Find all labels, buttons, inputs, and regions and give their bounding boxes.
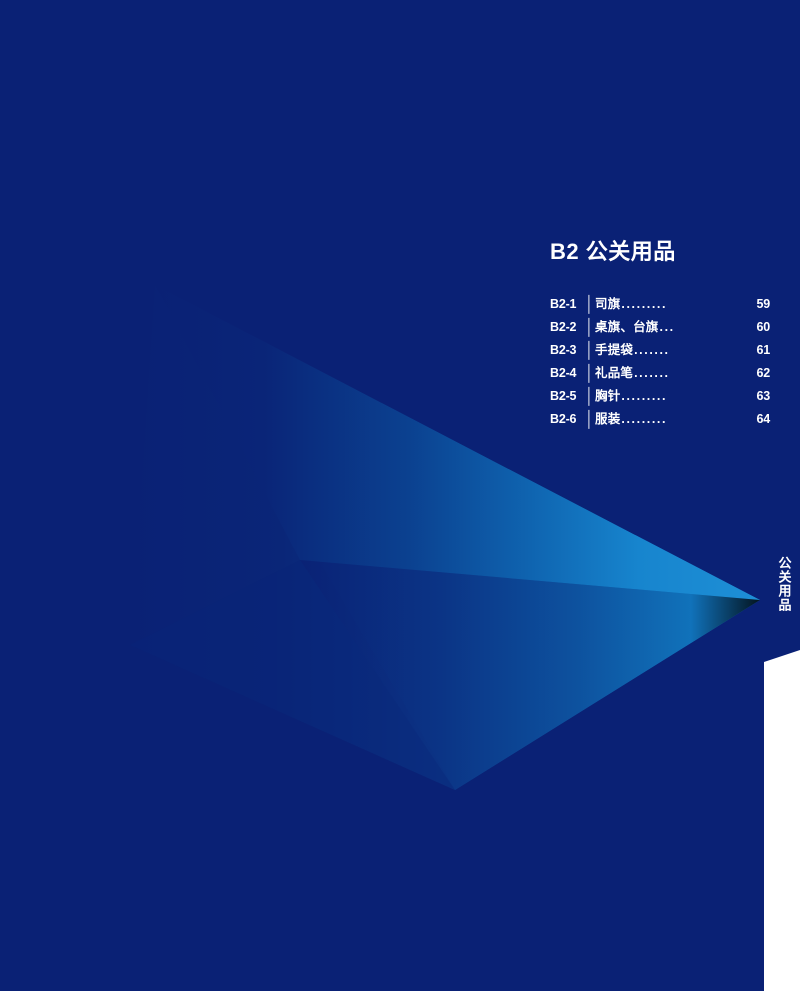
section-divider-page: 公关用品 B2 公关用品 B2-1 │ 司旗 ......... 59 B2-2…: [0, 0, 800, 991]
toc-item-page: 60: [756, 321, 770, 334]
toc-item-name: 手提袋: [595, 344, 633, 357]
toc-item-leader-dots: .......: [634, 367, 755, 380]
toc-item-code: B2-5: [550, 390, 584, 403]
toc-item-code: B2-3: [550, 344, 584, 357]
toc-item-leader-dots: ...: [660, 321, 756, 334]
toc-item[interactable]: B2-2 │ 桌旗、台旗 ... 60: [550, 321, 770, 344]
toc-item-page: 62: [756, 367, 770, 380]
toc-item[interactable]: B2-6 │ 服装 ......... 64: [550, 413, 770, 436]
toc-item-leader-dots: .........: [621, 298, 755, 311]
toc-item-code: B2-2: [550, 321, 584, 334]
toc-item[interactable]: B2-5 │ 胸针 ......... 63: [550, 390, 770, 413]
toc-item-separator: │: [584, 343, 595, 359]
abstract-triangle-arrow-graphic: [0, 0, 800, 991]
toc-item-name: 桌旗、台旗: [595, 321, 659, 334]
side-tab-label: 公关用品: [778, 556, 791, 612]
toc-item-page: 64: [756, 413, 770, 426]
toc-item-page: 59: [756, 298, 770, 311]
section-contents: B2 公关用品 B2-1 │ 司旗 ......... 59 B2-2 │ 桌旗…: [550, 240, 770, 436]
toc-list: B2-1 │ 司旗 ......... 59 B2-2 │ 桌旗、台旗 ... …: [550, 298, 770, 436]
toc-item[interactable]: B2-1 │ 司旗 ......... 59: [550, 298, 770, 321]
toc-item-page: 63: [756, 390, 770, 403]
toc-item-separator: │: [584, 366, 595, 382]
toc-item-separator: │: [584, 412, 595, 428]
toc-item[interactable]: B2-4 │ 礼品笔 ....... 62: [550, 367, 770, 390]
toc-item-code: B2-6: [550, 413, 584, 426]
toc-item-name: 服装: [595, 413, 620, 426]
toc-item-page: 61: [756, 344, 770, 357]
toc-item-leader-dots: .........: [621, 413, 755, 426]
toc-item-code: B2-4: [550, 367, 584, 380]
toc-item-code: B2-1: [550, 298, 584, 311]
toc-item[interactable]: B2-3 │ 手提袋 ....... 61: [550, 344, 770, 367]
toc-item-leader-dots: .........: [621, 390, 755, 403]
toc-item-separator: │: [584, 389, 595, 405]
toc-item-name: 胸针: [595, 390, 620, 403]
toc-item-name: 司旗: [595, 298, 620, 311]
toc-item-leader-dots: .......: [634, 344, 755, 357]
toc-item-separator: │: [584, 320, 595, 336]
page-title: B2 公关用品: [550, 240, 770, 264]
toc-item-separator: │: [584, 297, 595, 313]
toc-item-name: 礼品笔: [595, 367, 633, 380]
side-tab: 公关用品: [768, 556, 800, 660]
